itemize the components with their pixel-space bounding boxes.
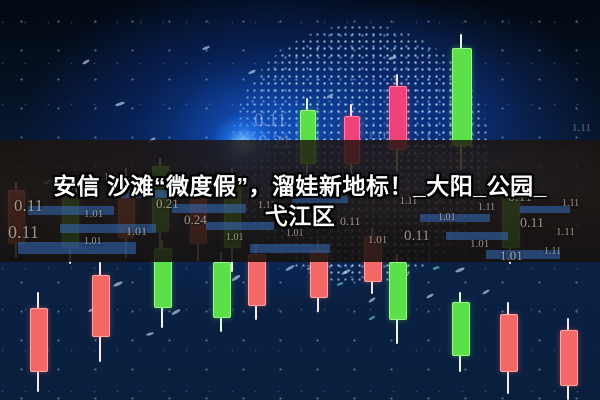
candle-body xyxy=(452,48,472,146)
headline-line-2: 弋江区 xyxy=(265,201,336,231)
candle-body xyxy=(500,314,518,372)
headline-line-1: 安信 沙滩“微度假”，溜娃新地标！_大阳_公园_ xyxy=(53,171,547,201)
candlestick-down xyxy=(30,292,46,392)
candle-body xyxy=(389,262,407,320)
candle-body xyxy=(452,302,470,356)
candlestick-up xyxy=(452,292,468,372)
news-thumbnail-image: 0.110.211.111.111.111.11 0.111.011.011.1… xyxy=(0,0,600,400)
candle-body xyxy=(30,308,48,372)
candlestick-down xyxy=(500,302,516,394)
candlestick-down xyxy=(92,262,108,362)
candlestick-up xyxy=(389,254,405,344)
candle-body xyxy=(560,330,578,386)
headline-overlay: 安信 沙滩“微度假”，溜娃新地标！_大阳_公园_ 弋江区 xyxy=(0,140,600,262)
floating-number: 0.11 xyxy=(254,110,287,132)
floating-number: 1.11 xyxy=(572,122,591,134)
candle-body xyxy=(92,275,110,337)
candlestick-down xyxy=(560,318,576,400)
